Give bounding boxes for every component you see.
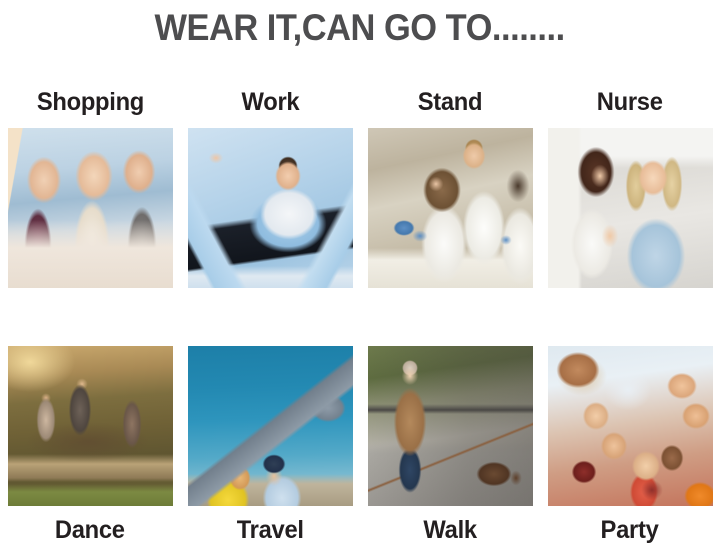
scenario-row-top: Shopping Work Stand Nurse [0,90,720,302]
scenario-photo-shopping [8,128,173,288]
scenario-photo-nurse [548,128,713,288]
scenario-cell-shopping: Shopping [0,90,180,288]
scenario-label-party: Party [601,518,659,543]
scenario-cell-nurse: Nurse [540,90,720,288]
scenario-photo-stand [368,128,533,288]
scenario-photo-party [548,346,713,506]
scenario-label-nurse: Nurse [597,90,663,115]
scenario-row-bottom: Dance Travel Walk Party [0,346,720,554]
scenario-cell-party: Party [540,346,720,543]
scenario-label-dance: Dance [55,518,125,543]
scenario-cell-walk: Walk [360,346,540,543]
scenario-label-shopping: Shopping [36,90,143,115]
scenario-photo-travel [188,346,353,506]
scenario-photo-walk [368,346,533,506]
scenario-cell-work: Work [180,90,360,288]
scenario-cell-travel: Travel [180,346,360,543]
scenario-photo-dance [8,346,173,506]
scenario-label-work: Work [241,90,299,115]
scenario-label-walk: Walk [423,518,476,543]
page-title-bar: WEAR IT,CAN GO TO........ [0,0,720,55]
scenario-label-travel: Travel [237,518,304,543]
page-title: WEAR IT,CAN GO TO........ [155,9,565,46]
scenario-label-stand: Stand [418,90,483,115]
scenario-cell-dance: Dance [0,346,180,543]
scenario-photo-work [188,128,353,288]
scenario-cell-stand: Stand [360,90,540,288]
